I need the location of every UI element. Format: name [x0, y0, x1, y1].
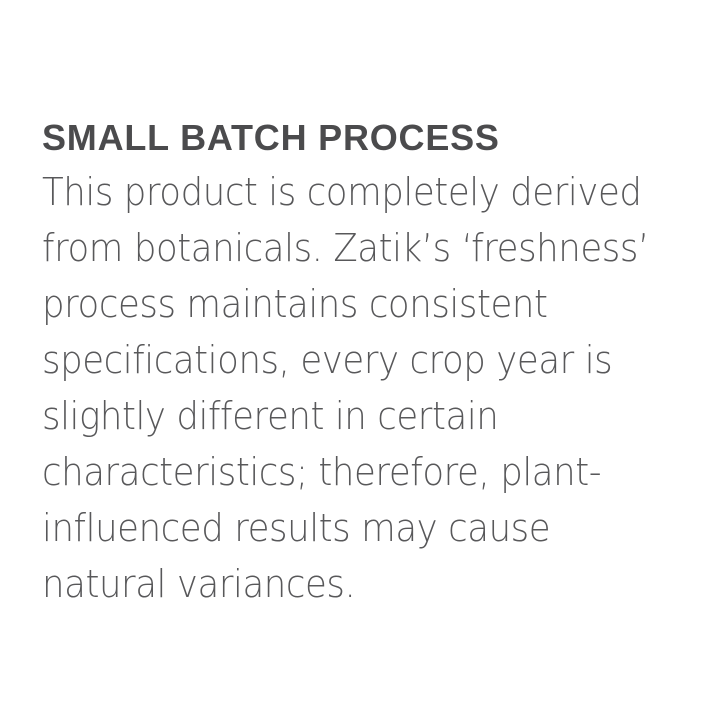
small-batch-process-text-block: SMALL BATCH PROCESS This product is comp… [42, 118, 702, 612]
product-info-panel: SMALL BATCH PROCESS This product is comp… [0, 0, 720, 720]
section-heading: SMALL BATCH PROCESS [42, 118, 702, 158]
section-body-text: This product is completely derived from … [42, 164, 659, 612]
